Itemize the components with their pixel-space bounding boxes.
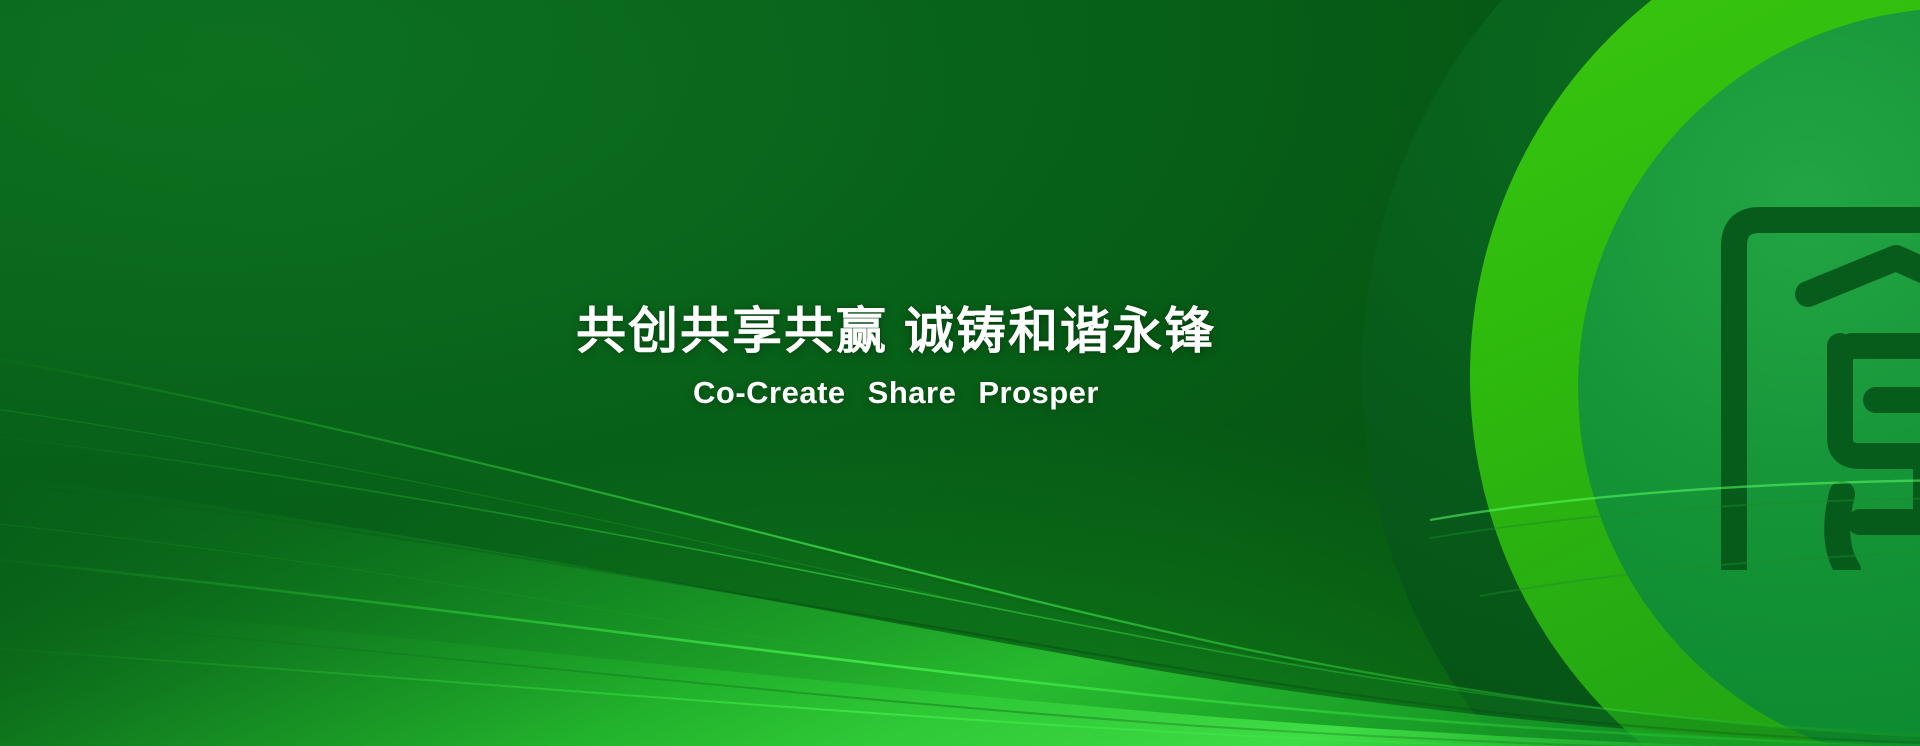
- subtitle-word-co-create: Co-Create: [693, 374, 846, 412]
- slogan-headline-chinese: 共创共享共赢 诚铸和谐永锋: [0, 300, 1920, 362]
- subtitle-word-share: Share: [868, 374, 957, 412]
- slogan-text-block: 共创共享共赢 诚铸和谐永锋 Co-CreateShareProsper: [0, 300, 1920, 412]
- subtitle-word-prosper: Prosper: [978, 374, 1099, 412]
- background-glow-top-left: [0, 0, 1114, 492]
- slogan-subtitle-english: Co-CreateShareProsper: [0, 374, 1920, 412]
- promotional-banner: 共创共享共赢 诚铸和谐永锋 Co-CreateShareProsper: [0, 0, 1920, 746]
